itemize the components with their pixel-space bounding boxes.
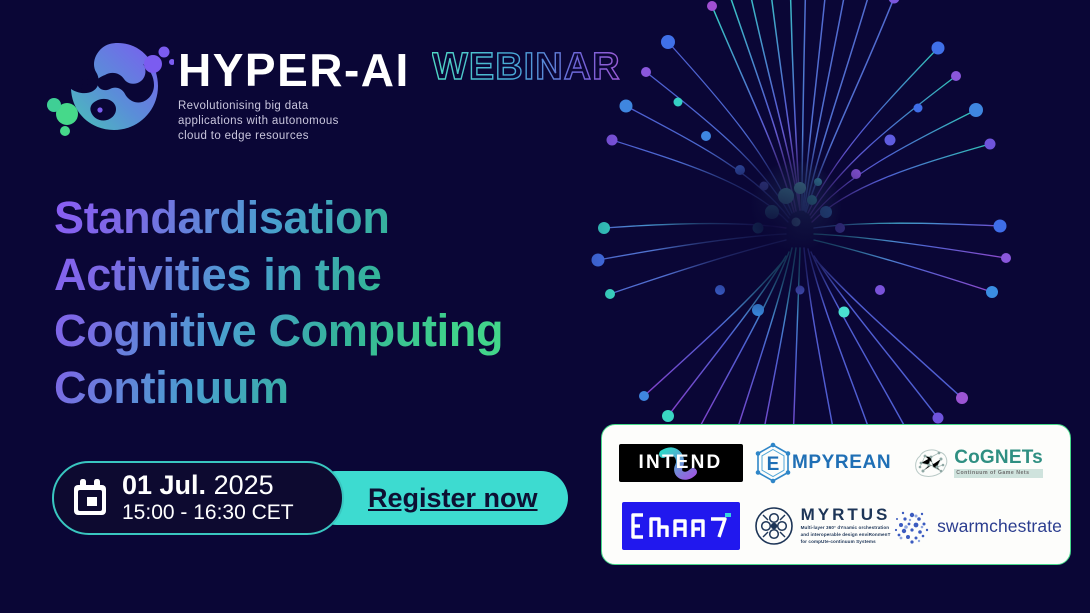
swarm-particles-icon (892, 507, 932, 545)
brand-tagline-line-3: cloud to edge resources (178, 129, 410, 144)
partner-logos-panel: INTEND E MPYREAN (601, 424, 1071, 565)
myrtus-flower-icon (753, 505, 795, 547)
hyper-ai-logo: HYPER-AI Revolutionising big data applic… (46, 33, 410, 145)
partner-logo-cognets: CoGNETs Continuum of Game Nets (892, 431, 1062, 495)
webinar-eyebrow: WEBINAR (432, 44, 632, 90)
brand-tagline-line-1: Revolutionising big data (178, 99, 410, 114)
partner-logo-intend: INTEND (610, 431, 751, 495)
headline-line-3: Cognitive Computing (54, 305, 503, 356)
enact-geometric-icon (629, 509, 733, 543)
empyrean-wordmark: MPYREAN (792, 452, 891, 474)
intend-wordmark: INTEND (639, 452, 723, 474)
brand-tagline: Revolutionising big data applications wi… (178, 99, 410, 145)
page-title: Standardisation Activities in the Cognit… (54, 190, 524, 417)
partner-logo-enact (610, 495, 751, 559)
headline-line-1: Standardisation (54, 192, 390, 243)
webinar-label: WEBINAR (432, 46, 621, 88)
myrtus-wordmark: MYRTUS (801, 506, 891, 523)
cta-row: 01 Jul. 2025 15:00 - 16:30 CET Register … (52, 461, 568, 535)
hyper-ai-circular-blob-logo (46, 33, 174, 141)
empyrean-mark-letter: E (767, 454, 780, 475)
partner-logo-myrtus: MYRTUS Multi-layer 360° dYnamic orchestr… (751, 495, 892, 559)
brand-tagline-line-2: applications with autonomous (178, 114, 410, 129)
event-date-year: 2025 (214, 470, 274, 500)
partner-logo-empyrean: E MPYREAN (751, 431, 892, 495)
empyrean-hexagon-icon: E (752, 442, 794, 484)
event-time: 15:00 - 16:30 CET (122, 500, 294, 525)
cognets-wordmark: CoGNETs (954, 448, 1043, 467)
myrtus-tagline-line-2: and interoperable design enviRonmenT (801, 532, 891, 539)
swarmchestrate-wordmark: swarmchestrate (937, 516, 1062, 537)
partner-logo-swarmchestrate: swarmchestrate (892, 495, 1062, 559)
event-datetime-pill: 01 Jul. 2025 15:00 - 16:30 CET (52, 461, 344, 535)
headline-line-4: Continuum (54, 362, 289, 413)
cognets-brain-icon (911, 445, 951, 481)
register-button[interactable]: Register now (310, 471, 568, 525)
webinar-banner: HYPER-AI Revolutionising big data applic… (0, 0, 1090, 613)
myrtus-tagline-line-3: for compUte-continuum Systems (801, 539, 891, 546)
cognets-tagline: Continuum of Game Nets (954, 469, 1043, 478)
calendar-icon (72, 479, 108, 517)
headline-line-2: Activities in the (54, 249, 381, 300)
event-date: 01 Jul. 2025 (122, 471, 294, 500)
myrtus-tagline-line-1: Multi-layer 360° dYnamic orchestration (801, 525, 891, 532)
event-date-day: 01 Jul. (122, 470, 206, 500)
myrtus-tagline: Multi-layer 360° dYnamic orchestration a… (801, 525, 891, 546)
brand-name: HYPER-AI (178, 47, 410, 93)
